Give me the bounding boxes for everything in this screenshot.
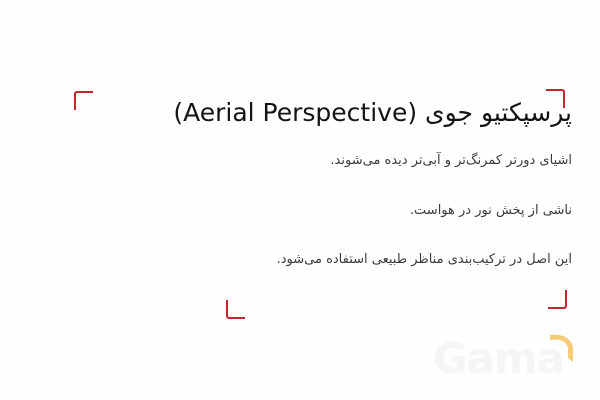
slide-bullet-3: این اصل در ترکیب‌بندی مناظر طبیعی استفاد… xyxy=(28,250,572,271)
slide-content: پرسپکتیو جوی (Aerial Perspective) اشیای … xyxy=(28,96,572,271)
slide-title: پرسپکتیو جوی (Aerial Perspective) xyxy=(28,96,572,130)
corner-bracket-bottom-left-icon xyxy=(226,300,245,319)
slide-bullet-1: اشیای دورتر کمرنگ‌تر و آبی‌تر دیده می‌شو… xyxy=(28,151,572,172)
watermark: Gama xyxy=(426,332,586,386)
slide-canvas: پرسپکتیو جوی (Aerial Perspective) اشیای … xyxy=(0,0,600,400)
watermark-label: Gama xyxy=(433,338,564,380)
slide-bullet-list: اشیای دورتر کمرنگ‌تر و آبی‌تر دیده می‌شو… xyxy=(28,151,572,271)
slide-bullet-2: ناشی از پخش نور در هواست. xyxy=(28,201,572,222)
corner-bracket-bottom-right-icon xyxy=(548,290,567,309)
swoosh-arc-icon xyxy=(546,332,580,366)
